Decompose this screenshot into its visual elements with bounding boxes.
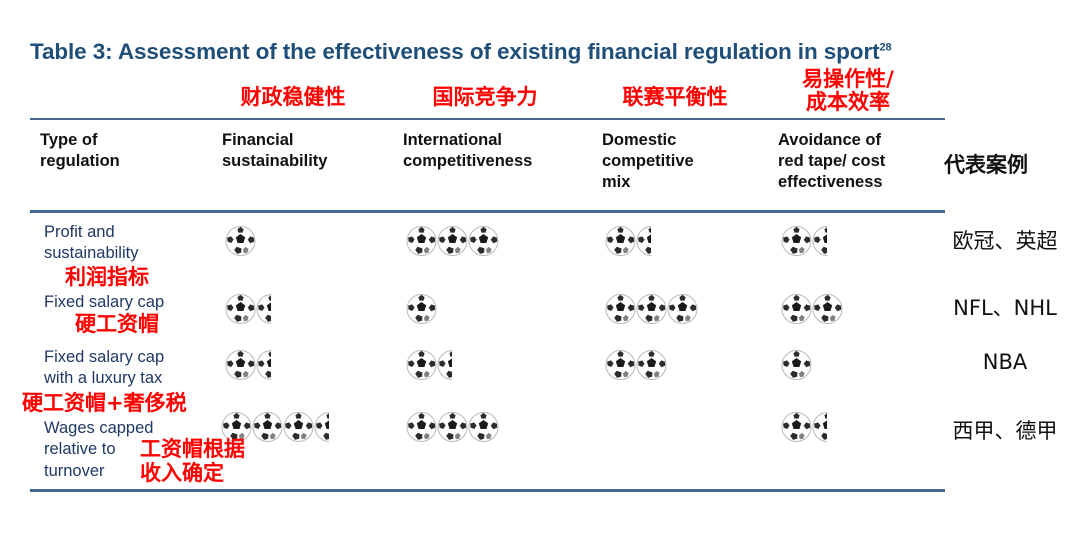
row-label-profit-and-sustainability: Profit and sustainability [44,222,219,265]
red-annotation-cap-by-revenue: 工资帽根据 收入确定 [140,438,245,485]
soccer-ball-icon [282,411,315,443]
soccer-ball-icon [224,225,257,257]
soccer-ball-half-icon [436,349,452,381]
cjk-annotation-domestic: 联赛平衡性 [590,86,760,109]
soccer-ball-icon [635,349,668,381]
soccer-ball-icon [224,293,257,325]
rating-cell [604,224,649,258]
soccer-ball-icon [780,349,813,381]
soccer-ball-icon [405,225,438,257]
table-rule-top [30,118,945,120]
soccer-ball-icon [251,411,284,443]
rating-cell [405,348,450,382]
rating-cell [224,348,269,382]
column-header-international-competitiveness: International competitiveness [403,130,593,172]
row-label-fixed-salary-cap-luxury-tax: Fixed salary cap with a luxury tax [44,347,219,390]
page-title: Table 3: Assessment of the effectiveness… [30,38,910,65]
soccer-ball-icon [436,411,469,443]
soccer-ball-half-icon [255,293,271,325]
soccer-ball-half-icon [811,411,827,443]
soccer-ball-icon [780,293,813,325]
rating-cell [405,292,436,326]
red-annotation-profit-indicator: 利润指标 [65,266,149,290]
rating-cell [780,224,825,258]
example-cell: NFL、NHL [930,292,1080,322]
soccer-ball-icon [436,225,469,257]
soccer-ball-icon [405,349,438,381]
rating-cell [780,348,811,382]
soccer-ball-icon [604,349,637,381]
soccer-ball-icon [405,411,438,443]
soccer-ball-icon [224,349,257,381]
soccer-ball-half-icon [635,225,651,257]
column-header-avoidance-of-red-tape: Avoidance of red tape/ cost effectivenes… [778,130,938,193]
row-label-fixed-salary-cap: Fixed salary cap [44,292,219,313]
rating-cell [780,410,825,444]
rating-cell [405,410,498,444]
column-header-representative-examples: 代表案例 [944,152,1074,179]
soccer-ball-icon [604,225,637,257]
cjk-annotation-redtape: 易操作性/ 成本效率 [768,68,928,113]
rating-cell [604,348,666,382]
example-cell: 欧冠、英超 [930,225,1080,255]
cjk-annotation-financial: 财政稳健性 [208,86,378,109]
red-annotation-hard-cap-luxury-tax: 硬工资帽+奢侈税 [22,392,187,416]
soccer-ball-half-icon [255,349,271,381]
rating-cell [405,224,498,258]
soccer-ball-icon [780,411,813,443]
soccer-ball-icon [635,293,668,325]
table-rule-header [30,210,945,213]
cjk-annotation-international: 国际竞争力 [400,86,570,109]
soccer-ball-icon [780,225,813,257]
soccer-ball-icon [811,293,844,325]
soccer-ball-icon [405,293,438,325]
red-annotation-hard-salary-cap: 硬工资帽 [75,313,159,337]
rating-cell [604,292,697,326]
table-rule-bottom [30,489,945,492]
rating-cell [224,292,269,326]
column-header-financial-sustainability: Financial sustainability [222,130,402,172]
page-title-text: Table 3: Assessment of the effectiveness… [30,39,880,64]
soccer-ball-icon [467,225,500,257]
page-title-footnote-marker: 28 [880,42,892,54]
example-cell: NBA [930,350,1080,374]
soccer-ball-icon [467,411,500,443]
soccer-ball-half-icon [313,411,329,443]
rating-cell [780,292,842,326]
column-header-type-of-regulation: Type of regulation [40,130,205,172]
rating-cell [224,224,255,258]
soccer-ball-icon [604,293,637,325]
soccer-ball-icon [666,293,699,325]
soccer-ball-half-icon [811,225,827,257]
column-header-domestic-competitive-mix: Domestic competitive mix [602,130,767,193]
example-cell: 西甲、德甲 [930,415,1080,445]
